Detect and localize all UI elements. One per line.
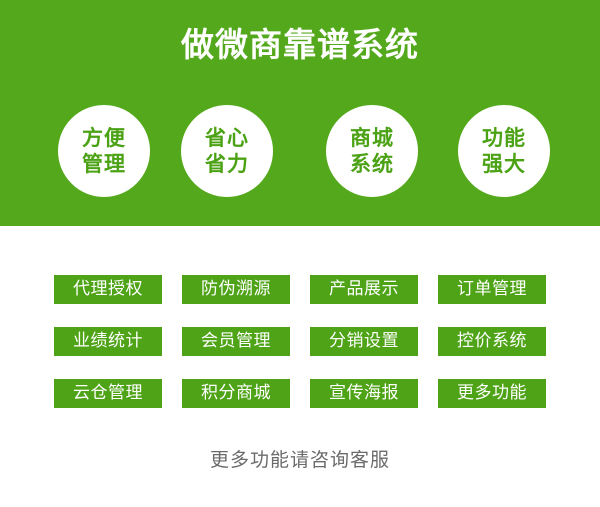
feature-tag[interactable]: 宣传海报: [310, 379, 418, 408]
circle-badge-line-1: 方便: [82, 125, 126, 151]
feature-tag[interactable]: 代理授权: [54, 275, 162, 304]
hero-banner: 做微商靠谱系统 方便 管理 省心 省力 商城 系统 功能 强大: [0, 0, 600, 226]
promo-poster: 做微商靠谱系统 方便 管理 省心 省力 商城 系统 功能 强大 代理授权: [0, 0, 600, 507]
circle-badge-line-1: 省心: [205, 125, 249, 151]
circle-badge-effortless: 省心 省力: [181, 105, 273, 197]
circle-badge-line-2: 系统: [350, 151, 394, 177]
feature-tag[interactable]: 分销设置: [310, 327, 418, 356]
circle-badge-convenient-management: 方便 管理: [58, 105, 150, 197]
circle-badge-line-1: 功能: [482, 125, 526, 151]
circle-badge-group: 方便 管理 省心 省力 商城 系统 功能 强大: [0, 105, 600, 197]
footer-note: 更多功能请咨询客服: [0, 447, 600, 473]
feature-tag-row: 业绩统计 会员管理 分销设置 控价系统: [0, 327, 600, 356]
feature-tag[interactable]: 控价系统: [438, 327, 546, 356]
feature-tag[interactable]: 业绩统计: [54, 327, 162, 356]
feature-tag[interactable]: 积分商城: [182, 379, 290, 408]
feature-tag[interactable]: 更多功能: [438, 379, 546, 408]
circle-badge-line-2: 管理: [82, 151, 126, 177]
circle-badge-line-2: 省力: [205, 151, 249, 177]
feature-tag-row: 云仓管理 积分商城 宣传海报 更多功能: [0, 379, 600, 408]
feature-tag[interactable]: 会员管理: [182, 327, 290, 356]
circle-badge-line-2: 强大: [482, 151, 526, 177]
circle-badge-mall-system: 商城 系统: [326, 105, 418, 197]
feature-tag[interactable]: 云仓管理: [54, 379, 162, 408]
feature-tag-row: 代理授权 防伪溯源 产品展示 订单管理: [0, 275, 600, 304]
feature-tag-grid: 代理授权 防伪溯源 产品展示 订单管理 业绩统计 会员管理 分销设置 控价系统 …: [0, 275, 600, 431]
feature-tag[interactable]: 防伪溯源: [182, 275, 290, 304]
page-title: 做微商靠谱系统: [0, 23, 600, 67]
circle-badge-powerful-features: 功能 强大: [458, 105, 550, 197]
feature-tag[interactable]: 产品展示: [310, 275, 418, 304]
circle-badge-line-1: 商城: [350, 125, 394, 151]
feature-tag[interactable]: 订单管理: [438, 275, 546, 304]
